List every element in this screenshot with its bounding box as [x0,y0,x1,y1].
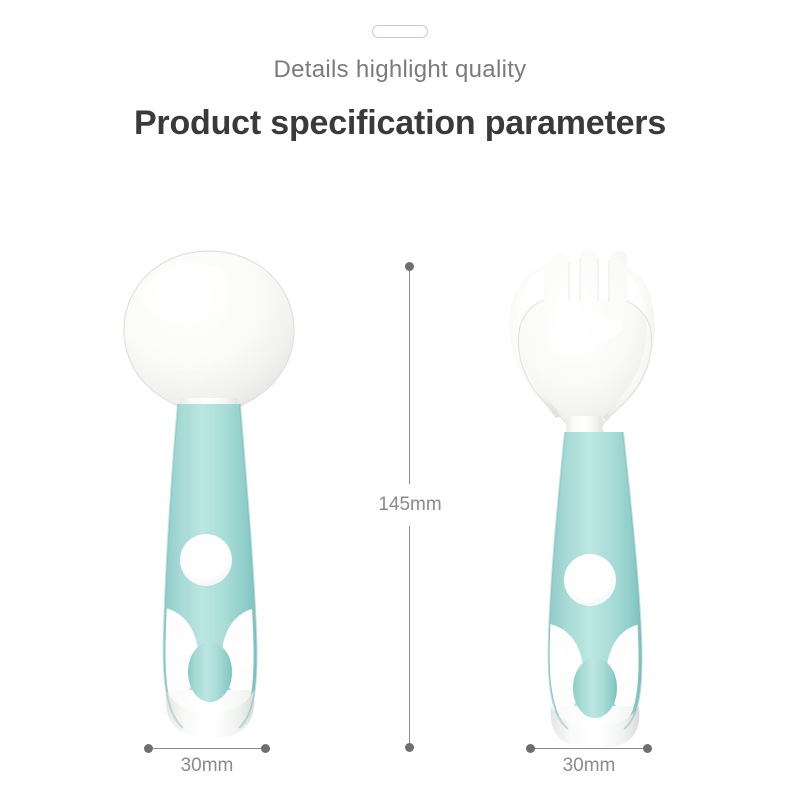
spoon-handle-mint-waist [188,642,232,702]
dimension-line-spoon-width [148,748,266,750]
dimension-length-label: 145mm [333,492,487,518]
dimension-length-dot-bottom [405,743,414,752]
dimension-spoon-width-label: 30mm [148,755,266,777]
dimension-fork-width-dot-right [643,744,652,753]
fork-handle-dot [564,554,616,606]
dimension-spoon-width-line [148,748,266,749]
dimension-fork-width-line [530,748,648,749]
fork-handle-mint-waist [573,658,617,718]
dimension-spoon-width-dot-right [261,744,270,753]
fork-graphic [509,249,665,770]
product-image-stage [0,0,800,800]
dimension-length-dot-top [405,262,414,271]
dimension-line-fork-width [530,748,648,750]
product-spec-page: Details highlight quality Product specif… [0,0,800,800]
dimension-fork-width-dot-left [526,744,535,753]
spoon-graphic [124,251,294,760]
dimension-fork-width-label: 30mm [530,755,648,777]
spoon-handle-dot [180,534,232,586]
dimension-spoon-width-dot-left [144,744,153,753]
product-illustration [0,0,800,800]
